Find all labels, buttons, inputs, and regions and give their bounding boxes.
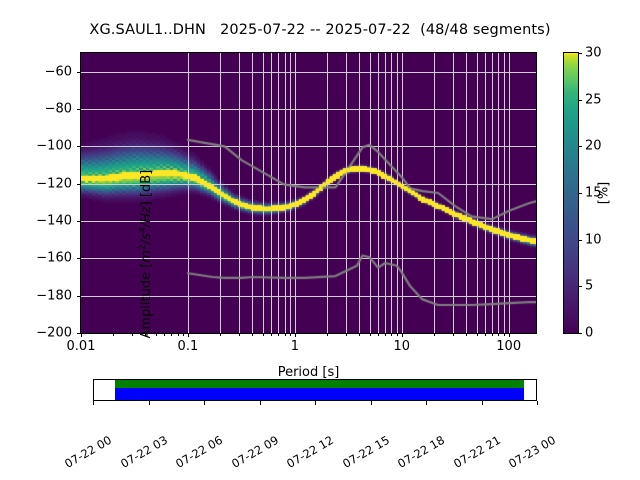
x-axis-minor-tick [453, 333, 454, 336]
colorbar-tick [578, 146, 582, 147]
timeline-tick [93, 401, 94, 405]
y-axis-tick-label: −80 [45, 102, 72, 117]
y-axis-tick [77, 221, 81, 222]
y-axis-tick [77, 109, 81, 110]
timeline-tick [426, 401, 427, 405]
y-axis-tick [77, 146, 81, 147]
y-axis-tick-label: −60 [45, 64, 72, 79]
colorbar-tick-label: 0 [585, 326, 593, 341]
x-axis-tick [81, 333, 82, 337]
timeline-tick-label: 07-22 21 [451, 433, 503, 471]
timeline-tick-label: 07-22 00 [62, 433, 114, 471]
x-axis-minor-tick [397, 333, 398, 336]
y-axis-tick [77, 296, 81, 297]
page-title: XG.SAUL1..DHN 2025-07-22 -- 2025-07-22 (… [0, 22, 640, 38]
timeline-tick [371, 401, 372, 405]
timeline-tick-label: 07-22 12 [284, 433, 336, 471]
x-axis-minor-tick [359, 333, 360, 336]
x-axis-tick-label: 0.01 [67, 339, 96, 354]
x-axis-tick-label: 10 [394, 339, 411, 354]
x-axis-minor-tick [466, 333, 467, 336]
timeline-tick-label: 07-22 09 [229, 433, 281, 471]
timeline-tick-label: 07-22 15 [340, 433, 392, 471]
y-axis-tick-label: −120 [36, 176, 72, 191]
colorbar-tick [578, 100, 582, 101]
x-axis-minor-tick [492, 333, 493, 336]
timeline-tick [537, 401, 538, 405]
x-axis-minor-tick [285, 333, 286, 336]
y-axis-tick [77, 258, 81, 259]
y-axis-tick [77, 333, 81, 334]
colorbar-tick [578, 53, 582, 54]
timeline-tick-label: 07-22 18 [395, 433, 447, 471]
x-axis-minor-tick [385, 333, 386, 336]
timeline-tick [204, 401, 205, 405]
x-axis-minor-tick [477, 333, 478, 336]
data-coverage-green[interactable] [115, 380, 524, 388]
x-axis-minor-tick [391, 333, 392, 336]
x-axis-tick [295, 333, 296, 337]
y-axis-tick-label: −140 [36, 214, 72, 229]
data-coverage-timeline[interactable] [93, 379, 537, 401]
colorbar-tick [578, 333, 582, 334]
x-axis-minor-tick [156, 333, 157, 336]
y-axis-title: Amplitude [m2/s4/Hz] [dB] [138, 113, 154, 395]
y-axis-tick-label: −160 [36, 251, 72, 266]
colorbar-tick [578, 240, 582, 241]
x-axis-minor-tick [271, 333, 272, 336]
y-axis-tick-label: −100 [36, 139, 72, 154]
x-axis-tick-label: 0.1 [178, 339, 199, 354]
x-axis-minor-tick [278, 333, 279, 336]
timeline-tick-label: 07-22 03 [118, 433, 170, 471]
timeline-tick-label: 07-23 00 [506, 433, 558, 471]
x-axis-minor-tick [327, 333, 328, 336]
x-axis-minor-tick [434, 333, 435, 336]
colorbar-tick-label: 30 [585, 46, 602, 61]
x-axis-minor-tick [164, 333, 165, 336]
y-axis-tick [77, 72, 81, 73]
colorbar-tick [578, 286, 582, 287]
x-axis-minor-tick [498, 333, 499, 336]
x-axis-minor-tick [252, 333, 253, 336]
x-axis-minor-tick [178, 333, 179, 336]
x-axis-tick [188, 333, 189, 337]
timeline-tick [149, 401, 150, 405]
x-axis-tick [509, 333, 510, 337]
x-axis-minor-tick [239, 333, 240, 336]
colorbar-tick-label: 20 [585, 139, 602, 154]
x-axis-minor-tick [132, 333, 133, 336]
coverage-bars [94, 380, 536, 400]
x-axis-tick-label: 1 [291, 339, 299, 354]
x-axis-minor-tick [183, 333, 184, 336]
timeline-tick [260, 401, 261, 405]
colorbar-title: [%] [597, 182, 612, 205]
x-axis-minor-tick [346, 333, 347, 336]
x-axis-minor-tick [220, 333, 221, 336]
ppsd-plot-area: 0.010.1110100 −60−80−100−120−140−160−180… [80, 52, 537, 334]
x-axis-minor-tick [485, 333, 486, 336]
timeline-tick-label: 07-22 06 [173, 433, 225, 471]
y-axis-tick-label: −200 [36, 326, 72, 341]
data-coverage-blue[interactable] [115, 388, 524, 400]
x-axis-tick [402, 333, 403, 337]
timeline-tick [315, 401, 316, 405]
x-axis-minor-tick [113, 333, 114, 336]
x-axis-minor-tick [263, 333, 264, 336]
x-axis-minor-tick [504, 333, 505, 336]
colorbar-tick-label: 10 [585, 232, 602, 247]
x-axis-title: Period [s] [80, 365, 537, 380]
colorbar: 051015202530 [563, 52, 579, 334]
colorbar-tick-label: 5 [585, 279, 593, 294]
ppsd-figure: XG.SAUL1..DHN 2025-07-22 -- 2025-07-22 (… [0, 0, 640, 480]
x-axis-tick-label: 100 [496, 339, 521, 354]
colorbar-tick [578, 193, 582, 194]
x-axis-minor-tick [290, 333, 291, 336]
x-axis-minor-tick [171, 333, 172, 336]
colorbar-tick-label: 25 [585, 92, 602, 107]
y-axis-tick [77, 184, 81, 185]
x-axis-minor-tick [370, 333, 371, 336]
y-axis-tick-label: −180 [36, 288, 72, 303]
timeline-tick [482, 401, 483, 405]
x-axis-minor-tick [378, 333, 379, 336]
